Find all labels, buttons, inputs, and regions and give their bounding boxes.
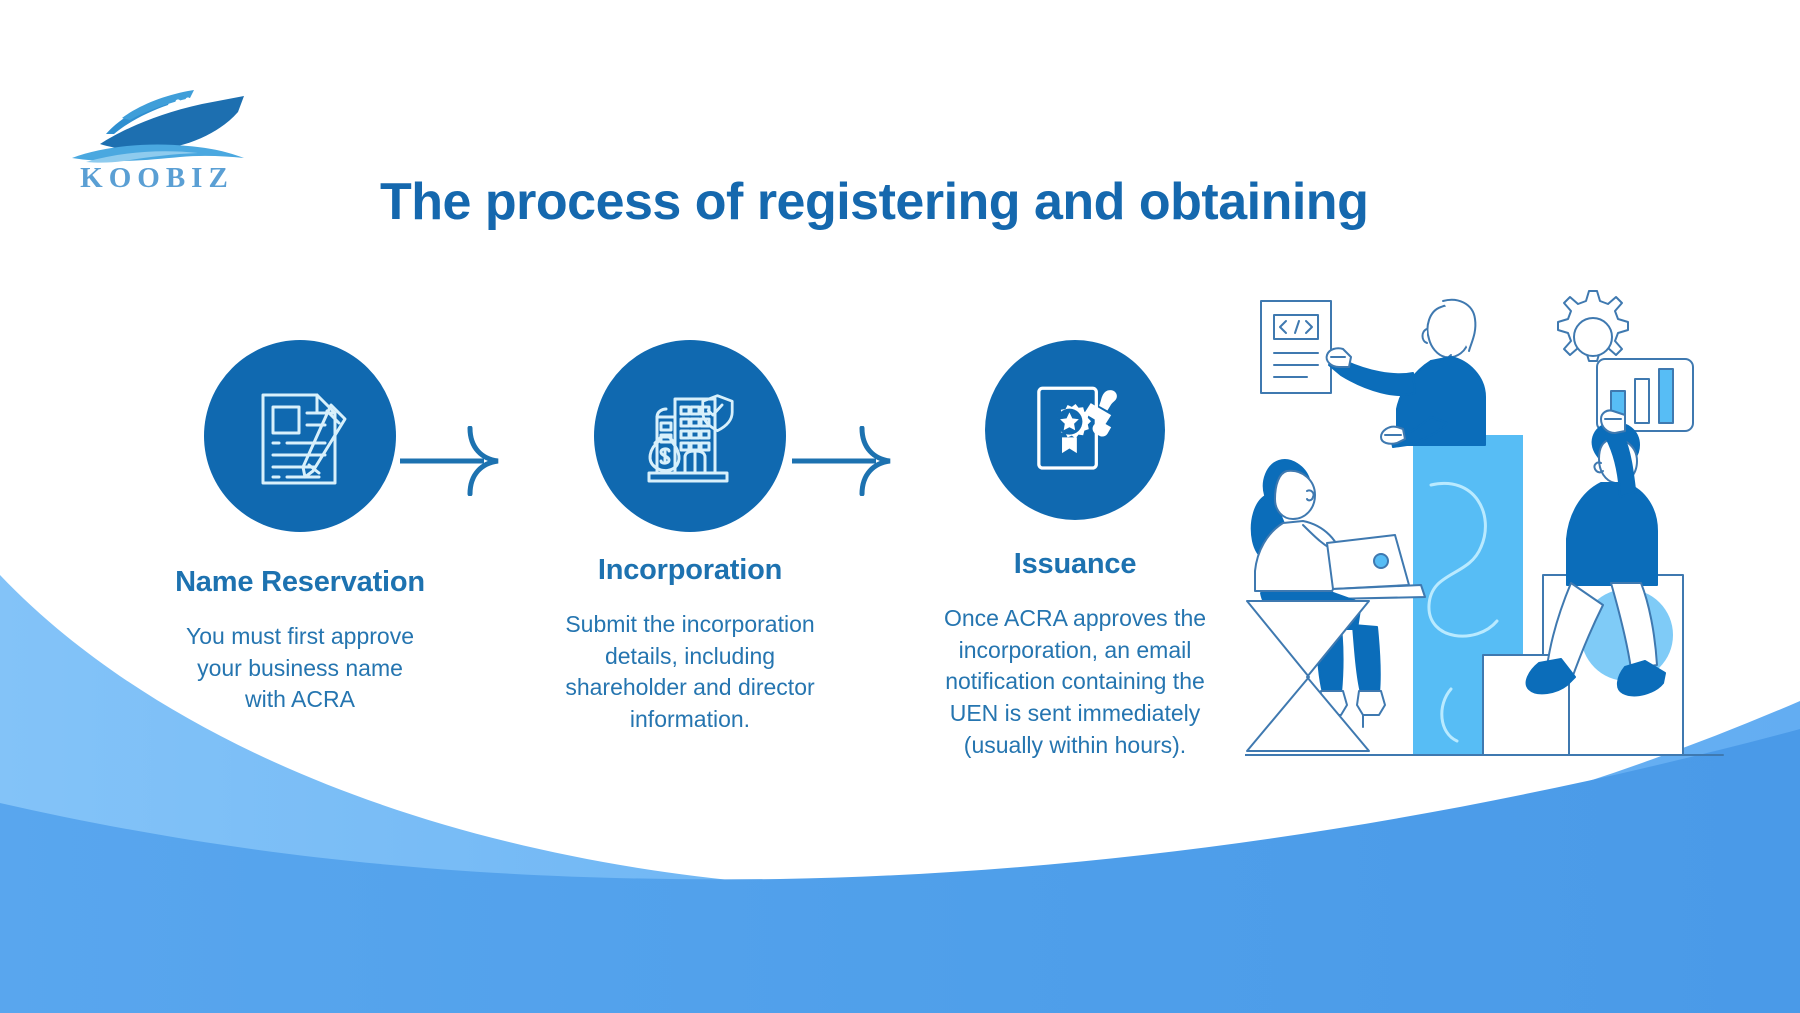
curved-arrow-right-icon-1 xyxy=(398,426,508,496)
step-incorporation: Incorporation Submit the incorporation d… xyxy=(540,340,840,736)
curved-arrow-right-icon-2 xyxy=(790,426,900,496)
step-3-title: Issuance xyxy=(925,548,1225,581)
step-1-title: Name Reservation xyxy=(150,566,450,599)
step-3-body-line: UEN is sent immediately xyxy=(931,698,1219,730)
step-2-body-line: Submit the incorporation xyxy=(546,609,834,641)
step-1-body-line: your business name xyxy=(156,653,444,685)
team-collaboration-illustration xyxy=(1245,285,1725,785)
step-1-body-line: with ACRA xyxy=(156,684,444,716)
step-3-body: Once ACRA approves the incorporation, an… xyxy=(925,603,1225,762)
certificate-stamp-icon xyxy=(1024,379,1126,481)
step-1-body-line: You must first approve xyxy=(156,621,444,653)
step-3-icon-circle xyxy=(985,340,1165,520)
page-title: The process of registering and obtaining xyxy=(380,172,1580,232)
document-pencil-icon xyxy=(245,381,355,491)
brand-logo: KOOBIZ xyxy=(52,72,262,212)
step-issuance: Issuance Once ACRA approves the incorpor… xyxy=(925,340,1225,762)
step-2-icon-circle xyxy=(594,340,786,532)
step-3-body-line: Once ACRA approves the xyxy=(931,603,1219,635)
step-3-body-line: (usually within hours). xyxy=(931,730,1219,762)
step-2-title: Incorporation xyxy=(540,554,840,587)
step-name-reservation: Name Reservation You must first approve … xyxy=(150,340,450,716)
step-3-body-line: incorporation, an email xyxy=(931,635,1219,667)
process-steps: Name Reservation You must first approve … xyxy=(0,340,1250,860)
step-3-body-line: notification containing the xyxy=(931,666,1219,698)
ship-wave-logo-icon xyxy=(52,72,262,167)
step-1-body: You must first approve your business nam… xyxy=(150,621,450,716)
step-2-body: Submit the incorporation details, includ… xyxy=(540,609,840,736)
step-2-body-line: details, including xyxy=(546,641,834,673)
step-2-body-line: information. xyxy=(546,704,834,736)
office-building-money-shield-icon xyxy=(635,381,745,491)
brand-wordmark: KOOBIZ xyxy=(52,162,262,195)
step-1-icon-circle xyxy=(204,340,396,532)
step-2-body-line: shareholder and director xyxy=(546,672,834,704)
